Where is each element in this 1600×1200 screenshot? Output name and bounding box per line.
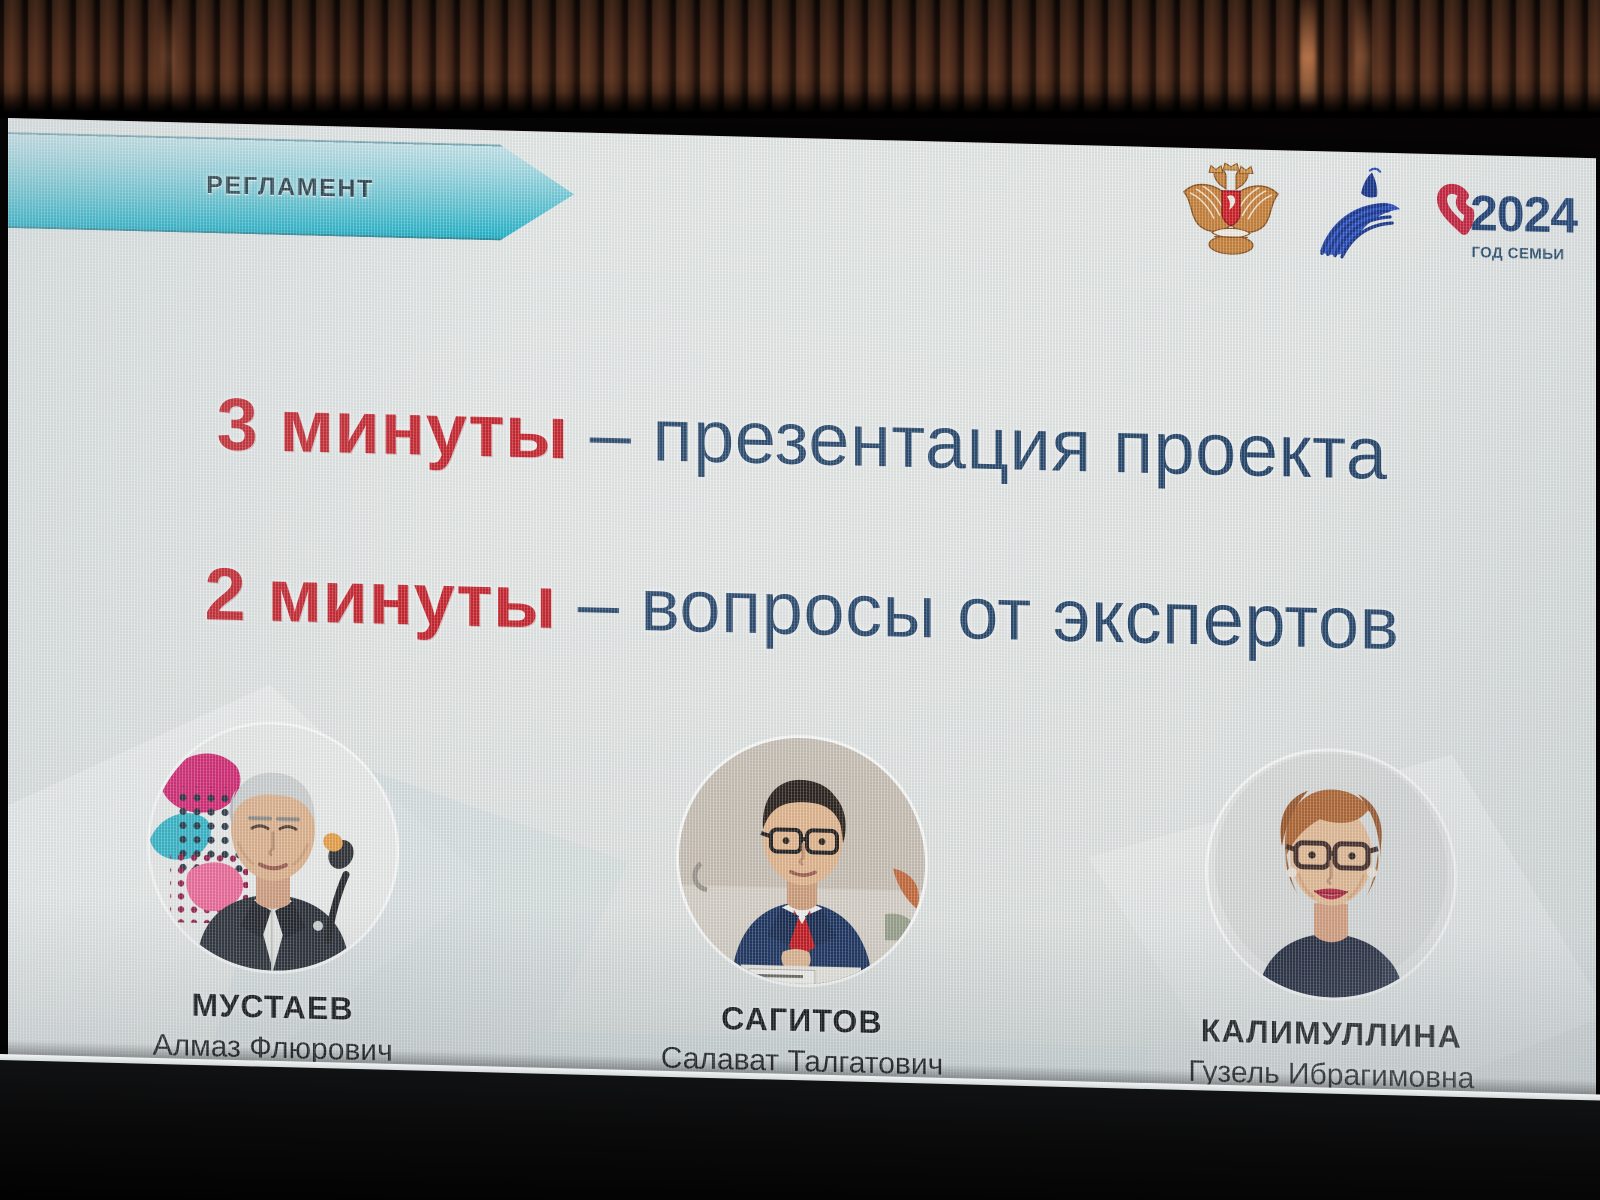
expert-card: МУСТАЕВ Алмаз Флюрович <box>63 719 483 1071</box>
ministry-of-education-emblem-icon <box>1176 161 1286 265</box>
expert-surname: КАЛИМУЛЛИНА <box>1201 1012 1462 1056</box>
expert-card: САГИТОВ Салават Талгатович <box>592 733 1012 1085</box>
year-2024-heart-icon: 2024 <box>1434 177 1596 253</box>
banner-label: РЕГЛАМЕНТ <box>206 171 374 204</box>
headline-presentation: 3 минуты – презентация проекта <box>8 376 1596 501</box>
headline-1-text: презентация проекта <box>653 393 1388 495</box>
reglament-banner: РЕГЛАМЕНТ <box>8 132 574 242</box>
logo-row: 2024 ГОД СЕМЬИ <box>1176 162 1596 273</box>
blue-wave-logo-icon <box>1314 165 1406 268</box>
year-of-family-caption: ГОД СЕМЬИ <box>1471 244 1564 263</box>
ceiling-wooden-slats <box>0 0 1600 118</box>
svg-text:2024: 2024 <box>1470 185 1578 244</box>
avatar <box>1208 748 1454 1000</box>
expert-card: КАЛИМУЛЛИНА Гузель Ибрагимовна <box>1121 746 1541 1098</box>
slide-reglament: РЕГЛАМЕНТ <box>8 118 1596 1106</box>
headline-2-dash: – <box>557 561 641 646</box>
portrait-mustaev <box>150 722 396 974</box>
avatar <box>150 722 396 974</box>
headline-questions: 2 минуты – вопросы от экспертов <box>8 546 1596 671</box>
year-of-family-2024-logo: 2024 ГОД СЕМЬИ <box>1434 177 1596 264</box>
experts-row: МУСТАЕВ Алмаз Флюрович <box>8 718 1596 1106</box>
expert-surname: САГИТОВ <box>721 1000 883 1041</box>
avatar <box>679 735 925 987</box>
portrait-kalimullina <box>1208 748 1454 1000</box>
expert-surname: МУСТАЕВ <box>191 987 353 1028</box>
headline-1-duration: 3 минуты <box>217 382 569 474</box>
projection-screen: РЕГЛАМЕНТ <box>8 118 1596 1106</box>
headline-2-text: вопросы от экспертов <box>640 563 1399 665</box>
headline-2-duration: 2 минуты <box>205 552 557 644</box>
headline-1-dash: – <box>569 391 653 476</box>
portrait-sagitov <box>679 735 925 987</box>
conference-room-photo: РЕГЛАМЕНТ <box>0 0 1600 1200</box>
